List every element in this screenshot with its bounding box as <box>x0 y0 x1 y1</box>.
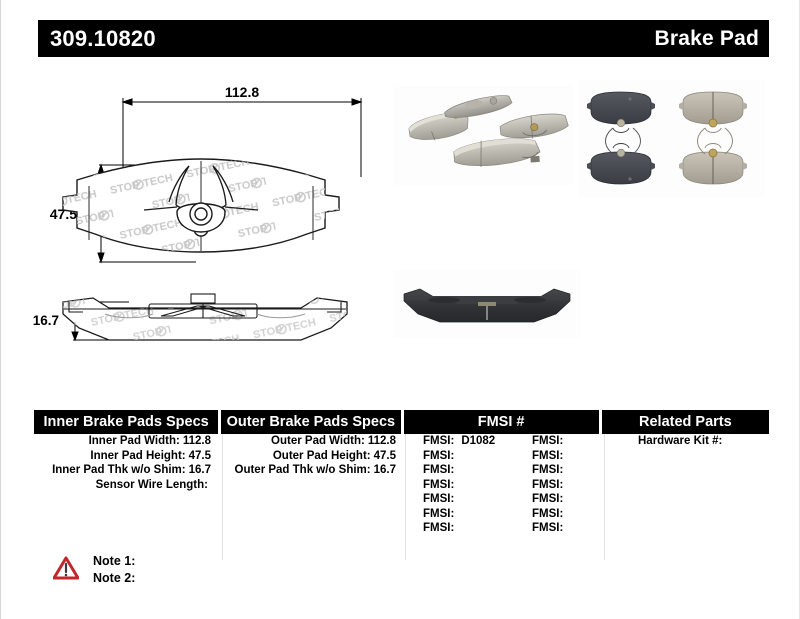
spec-value: 112.8 <box>368 435 396 447</box>
fmsi-value: D1082 <box>461 435 495 447</box>
spec-value: 47.5 <box>189 450 211 462</box>
fmsi-label: FMSI: <box>423 508 454 520</box>
product-type-title: Brake Pad <box>654 28 759 49</box>
outer-specs-column: Outer Pad Width:112.8 Outer Pad Height:4… <box>222 434 402 560</box>
fmsi-row: FMSI: <box>532 492 570 507</box>
fmsi-row: FMSI: <box>532 507 570 522</box>
notes-section: Note 1: Note 2: <box>53 553 135 587</box>
fmsi-label: FMSI: <box>532 435 563 447</box>
spec-label: Sensor Wire Length: <box>96 479 208 491</box>
fmsi-row: FMSI: <box>423 449 495 464</box>
spec-label: Inner Pad Thk w/o Shim: <box>52 464 186 476</box>
spec-row: Inner Pad Width:112.8 <box>34 434 219 449</box>
spec-label: Outer Pad Height: <box>273 450 371 462</box>
product-photo-angled-group <box>393 85 573 185</box>
fmsi-label: FMSI: <box>532 508 563 520</box>
fmsi-row: FMSI: <box>532 449 570 464</box>
fmsi-label: FMSI: <box>423 450 454 462</box>
spec-row: Inner Pad Thk w/o Shim:16.7 <box>34 463 219 478</box>
spec-label: Inner Pad Height: <box>90 450 185 462</box>
note-line-1: Note 1: <box>93 553 135 570</box>
specs-table-body: Inner Pad Width:112.8 Inner Pad Height:4… <box>34 434 769 560</box>
fmsi-row: FMSI:D1082 <box>423 434 495 449</box>
note-line-2: Note 2: <box>93 570 135 587</box>
table-header-outer-specs: Outer Brake Pads Specs <box>221 410 400 434</box>
technical-drawing-side-view: 16.7 <box>1 284 401 364</box>
related-parts-column: Hardware Kit #: <box>604 434 769 560</box>
spec-row: Outer Pad Height:47.5 <box>223 449 402 464</box>
related-parts-row: Hardware Kit #: <box>605 434 769 449</box>
spec-label: Outer Pad Width: <box>271 435 365 447</box>
spec-value: 16.7 <box>374 464 396 476</box>
fmsi-row: FMSI: <box>423 521 495 536</box>
fmsi-row: FMSI: <box>532 434 570 449</box>
spec-row: Inner Pad Height:47.5 <box>34 449 219 464</box>
fmsi-label: FMSI: <box>423 522 454 534</box>
product-photo-pad-grid <box>579 80 764 198</box>
fmsi-row: FMSI: <box>423 478 495 493</box>
related-parts-label: Hardware Kit #: <box>638 435 722 447</box>
part-number: 309.10820 <box>50 28 156 50</box>
spec-value: 112.8 <box>183 435 211 447</box>
fmsi-label: FMSI: <box>532 479 563 491</box>
side-clip-detail <box>149 294 257 318</box>
spec-row: Outer Pad Width:112.8 <box>223 434 402 449</box>
fmsi-row: FMSI: <box>423 463 495 478</box>
fmsi-label: FMSI: <box>423 493 454 505</box>
specs-table: Inner Brake Pads Specs Outer Brake Pads … <box>34 410 769 560</box>
spec-value: 16.7 <box>189 464 211 476</box>
fmsi-row: FMSI: <box>532 521 570 536</box>
warning-triangle-icon <box>53 556 79 580</box>
table-header-related-parts: Related Parts <box>602 410 769 434</box>
fmsi-sublist-right: FMSI: FMSI: FMSI: FMSI: FMSI: FMSI: FMSI… <box>532 434 570 536</box>
spec-value: 47.5 <box>374 450 396 462</box>
fmsi-sublist-left: FMSI:D1082 FMSI: FMSI: FMSI: FMSI: FMSI:… <box>423 434 495 536</box>
dimension-thickness-label: 16.7 <box>33 313 59 328</box>
spec-label: Outer Pad Thk w/o Shim: <box>235 464 371 476</box>
fmsi-row: FMSI: <box>532 478 570 493</box>
fmsi-label: FMSI: <box>423 464 454 476</box>
fmsi-label: FMSI: <box>532 450 563 462</box>
fmsi-label: FMSI: <box>532 464 563 476</box>
drawing-area: STOP TECH STOP TECH <box>1 62 800 392</box>
product-photo-edge-view <box>394 270 580 338</box>
fmsi-row: FMSI: <box>532 463 570 478</box>
fmsi-label: FMSI: <box>423 435 454 447</box>
fmsi-row: FMSI: <box>423 507 495 522</box>
table-header-inner-specs: Inner Brake Pads Specs <box>34 410 218 434</box>
spec-row: Outer Pad Thk w/o Shim:16.7 <box>223 463 402 478</box>
table-header-fmsi: FMSI # <box>404 410 599 434</box>
fmsi-label: FMSI: <box>532 522 563 534</box>
fmsi-label: FMSI: <box>423 479 454 491</box>
inner-specs-column: Inner Pad Width:112.8 Inner Pad Height:4… <box>34 434 219 560</box>
dimension-width-label: 112.8 <box>225 84 259 100</box>
spec-sheet-page: 309.10820 Brake Pad STOP TECH STOP TECH <box>0 0 800 619</box>
header-bar: 309.10820 Brake Pad <box>38 20 769 57</box>
fmsi-column: FMSI:D1082 FMSI: FMSI: FMSI: FMSI: FMSI:… <box>405 434 601 560</box>
spec-row: Sensor Wire Length: <box>34 478 219 493</box>
fmsi-row: FMSI: <box>423 492 495 507</box>
specs-table-header-row: Inner Brake Pads Specs Outer Brake Pads … <box>34 410 769 434</box>
fmsi-label: FMSI: <box>532 493 563 505</box>
spec-label: Inner Pad Width: <box>89 435 180 447</box>
